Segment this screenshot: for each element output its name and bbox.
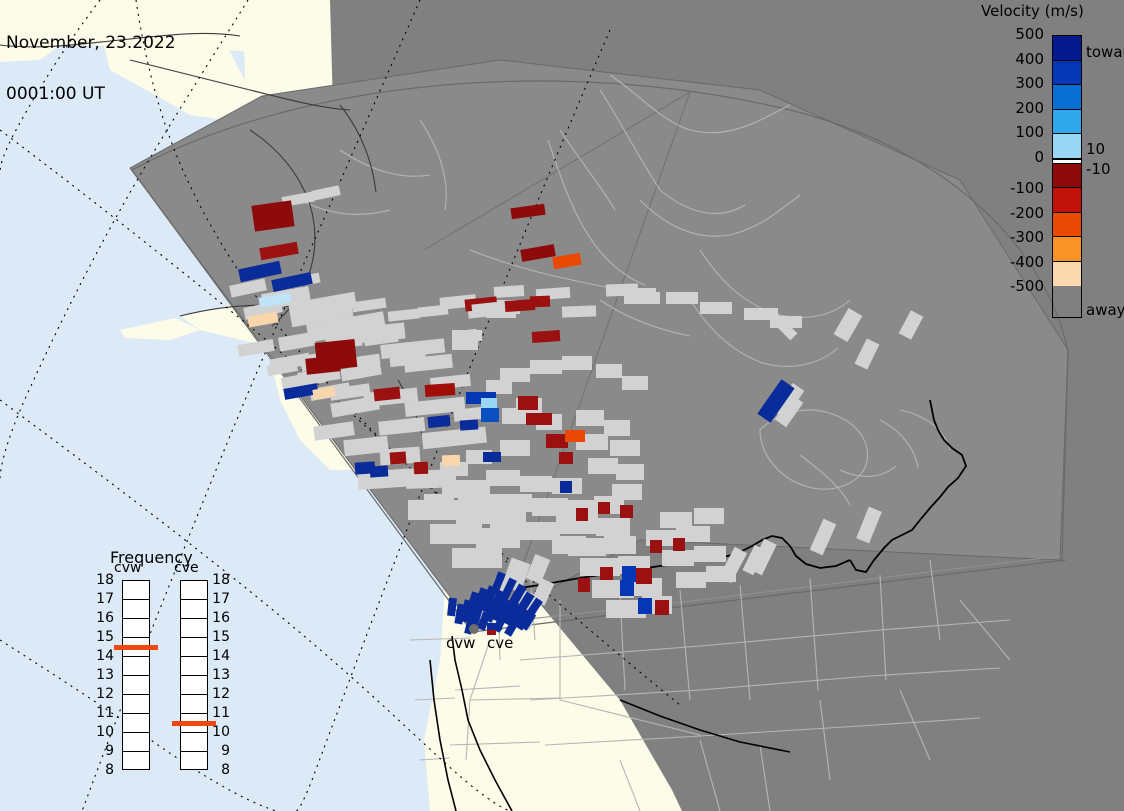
colorbar-tick-neg400: -400	[998, 253, 1044, 271]
velocity-cell	[427, 415, 450, 428]
colorbar-segment-away-3	[1053, 237, 1081, 262]
frequency-cell	[181, 676, 207, 695]
frequency-tick-cve-17: 17	[210, 591, 230, 607]
velocity-cell	[481, 408, 499, 422]
frequency-radar-name-cve: cve	[174, 560, 199, 576]
colorbar-toward-label: toward	[1086, 43, 1124, 61]
station-label-cvw: cvw	[446, 634, 475, 652]
velocity-cell	[532, 330, 561, 343]
frequency-cell	[181, 581, 207, 600]
frequency-tick-cvw-8: 8	[94, 762, 114, 778]
velocity-cell	[460, 419, 479, 430]
frequency-scale-cve	[180, 580, 208, 770]
colorbar-away-label: away	[1086, 301, 1124, 319]
velocity-cell	[518, 396, 538, 410]
frequency-scale-cvw	[122, 580, 150, 770]
velocity-cell	[370, 465, 389, 477]
colorbar-segment-away-4	[1053, 262, 1081, 287]
velocity-cell	[390, 451, 407, 464]
frequency-cell	[181, 657, 207, 676]
station-marker-dot	[469, 624, 479, 634]
frequency-tick-cve-13: 13	[210, 667, 230, 683]
velocity-cell	[638, 598, 652, 614]
frequency-tick-cve-11: 11	[210, 705, 230, 721]
frequency-cell	[123, 581, 149, 600]
frequency-tick-cve-12: 12	[210, 686, 230, 702]
frequency-cell	[181, 752, 207, 771]
colorbar-tick-100: 100	[998, 123, 1044, 141]
colorbar-tick-neg300: -300	[998, 228, 1044, 246]
frequency-cell	[123, 600, 149, 619]
colorbar-inner-tick-pos10: 10	[1086, 140, 1105, 158]
title-time: 0001:00 UT	[6, 86, 176, 103]
frequency-cell	[123, 676, 149, 695]
frequency-cell	[181, 619, 207, 638]
frequency-cell	[123, 714, 149, 733]
frequency-cell	[123, 695, 149, 714]
frequency-legend: Frequency cvw18171615141312111098cve1817…	[96, 548, 236, 788]
frequency-tick-cve-14: 14	[210, 648, 230, 664]
velocity-cell	[526, 413, 552, 425]
velocity-cell	[622, 566, 636, 582]
frequency-tick-cvw-10: 10	[94, 724, 114, 740]
radar-map-figure: November, 23.2022 0001:00 UT Velocity (m…	[0, 0, 1124, 811]
colorbar-segment-toward-4	[1053, 134, 1081, 159]
colorbar-title: Velocity (m/s)	[981, 2, 1084, 20]
velocity-cell	[650, 540, 662, 553]
frequency-tick-cvw-13: 13	[94, 667, 114, 683]
colorbar-segment-toward-0	[1053, 36, 1081, 61]
velocity-cell	[576, 508, 588, 521]
colorbar-segment-toward-2	[1053, 85, 1081, 110]
velocity-cell	[483, 452, 501, 462]
frequency-marker-cve	[172, 721, 216, 726]
colorbar-tick-0: 0	[998, 148, 1044, 166]
frequency-tick-cvw-17: 17	[94, 591, 114, 607]
velocity-cell	[487, 623, 495, 630]
colorbar-segment-away-1	[1053, 188, 1081, 213]
colorbar-segment-toward-3	[1053, 110, 1081, 135]
frequency-cell	[123, 752, 149, 771]
frequency-tick-cve-8: 8	[210, 762, 230, 778]
frequency-cell	[181, 733, 207, 752]
colorbar-segment-away-0	[1053, 164, 1081, 189]
velocity-cell	[655, 600, 669, 615]
title-block: November, 23.2022 0001:00 UT	[6, 1, 176, 120]
velocity-cell	[560, 481, 572, 493]
colorbar-tick-500: 500	[998, 25, 1044, 43]
colorbar-segment-away-2	[1053, 213, 1081, 238]
velocity-cell	[530, 296, 550, 308]
velocity-colorbar	[1052, 35, 1082, 318]
colorbar-tick-neg200: -200	[998, 204, 1044, 222]
colorbar-segment-toward-1	[1053, 61, 1081, 86]
velocity-cell	[565, 430, 585, 442]
frequency-radar-name-cvw: cvw	[114, 560, 141, 576]
frequency-cell	[181, 638, 207, 657]
frequency-tick-cve-18: 18	[210, 572, 230, 588]
frequency-tick-cvw-14: 14	[94, 648, 114, 664]
colorbar-tick-200: 200	[998, 99, 1044, 117]
title-date: November, 23.2022	[6, 35, 176, 52]
colorbar-inner-tick-neg10: -10	[1086, 160, 1111, 178]
velocity-cell	[620, 505, 633, 518]
frequency-tick-cve-16: 16	[210, 610, 230, 626]
velocity-cell	[414, 462, 428, 474]
velocity-cell	[673, 538, 685, 551]
frequency-tick-cvw-15: 15	[94, 629, 114, 645]
velocity-cell	[495, 623, 502, 630]
station-label-cve: cve	[487, 634, 513, 652]
frequency-tick-cve-10: 10	[210, 724, 230, 740]
frequency-marker-cvw	[114, 645, 158, 650]
frequency-tick-cvw-11: 11	[94, 705, 114, 721]
frequency-tick-cvw-18: 18	[94, 572, 114, 588]
velocity-cell	[578, 578, 590, 592]
velocity-cell	[636, 568, 652, 584]
frequency-tick-cve-15: 15	[210, 629, 230, 645]
colorbar-tick-300: 300	[998, 74, 1044, 92]
frequency-cell	[181, 695, 207, 714]
velocity-cell	[600, 567, 613, 580]
velocity-cell	[251, 200, 294, 231]
frequency-cell	[123, 619, 149, 638]
velocity-cell	[620, 580, 634, 596]
colorbar-tick-neg100: -100	[998, 179, 1044, 197]
velocity-cell	[546, 434, 568, 448]
velocity-cell	[425, 383, 456, 397]
velocity-cell	[442, 455, 460, 467]
colorbar-tick-neg500: -500	[998, 277, 1044, 295]
frequency-tick-cvw-16: 16	[94, 610, 114, 626]
frequency-tick-cvw-12: 12	[94, 686, 114, 702]
frequency-tick-cvw-9: 9	[94, 743, 114, 759]
frequency-cell	[123, 657, 149, 676]
frequency-cell	[181, 600, 207, 619]
velocity-cell	[598, 502, 610, 514]
frequency-tick-cve-9: 9	[210, 743, 230, 759]
frequency-cell	[123, 733, 149, 752]
velocity-cell	[559, 452, 573, 464]
colorbar-tick-400: 400	[998, 50, 1044, 68]
